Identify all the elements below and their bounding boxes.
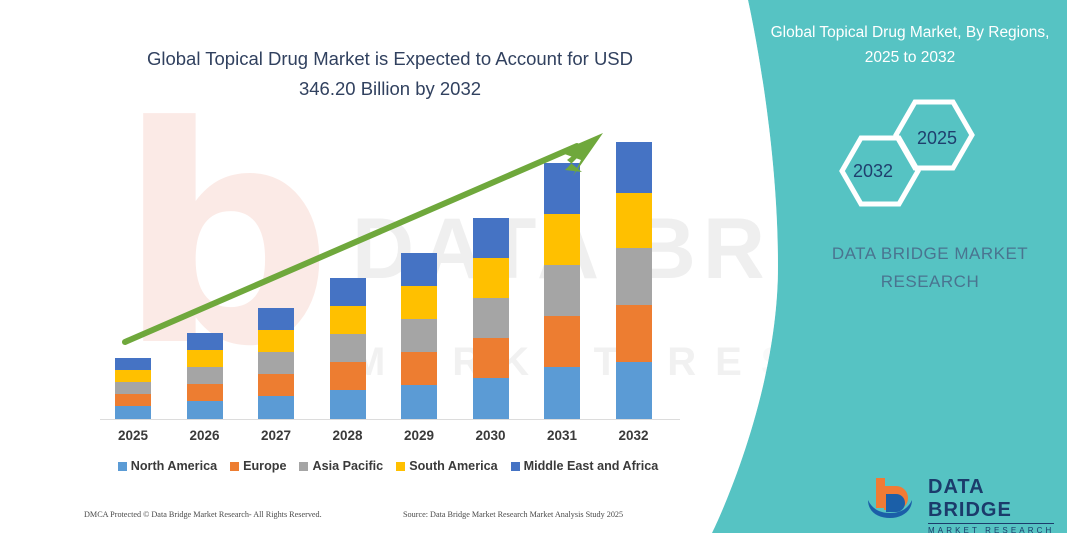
- legend-swatch-icon: [396, 462, 405, 471]
- bar-segment: [330, 306, 366, 334]
- bar-segment: [401, 385, 437, 419]
- x-axis-label-2028: 2028: [313, 428, 383, 443]
- bar-segment: [473, 338, 509, 378]
- bar-2027[interactable]: [258, 308, 294, 419]
- bar-segment: [258, 352, 294, 374]
- bars-container: [0, 0, 760, 419]
- brand-line-1: DATA BRIDGE MARKET: [790, 240, 1067, 268]
- hexagon-label-front: 2032: [853, 161, 893, 182]
- logo-divider: [928, 523, 1054, 524]
- bar-segment: [187, 401, 223, 419]
- bar-segment: [115, 382, 151, 394]
- bar-segment: [115, 358, 151, 370]
- logo-wordmark: DATA BRIDGE MARKET RESEARCH: [928, 476, 1056, 533]
- legend-label: Europe: [243, 459, 286, 473]
- legend-item-north-america[interactable]: North America: [118, 459, 217, 473]
- legend-label: Middle East and Africa: [524, 459, 659, 473]
- legend-swatch-icon: [230, 462, 239, 471]
- footer-source: Source: Data Bridge Market Research Mark…: [403, 510, 623, 519]
- bar-2031[interactable]: [544, 163, 580, 419]
- logo-main-text: DATA BRIDGE: [928, 476, 1056, 522]
- bar-segment: [473, 298, 509, 338]
- legend-label: North America: [131, 459, 217, 473]
- bar-2026[interactable]: [187, 333, 223, 419]
- legend-item-europe[interactable]: Europe: [230, 459, 286, 473]
- bar-segment: [115, 370, 151, 382]
- bar-2029[interactable]: [401, 253, 437, 419]
- x-axis-label-2025: 2025: [98, 428, 168, 443]
- infographic-canvas: b DATA BRIDGE MARKET RESEARCH Global Top…: [0, 0, 1067, 533]
- bar-segment: [473, 378, 509, 419]
- x-axis-label-2032: 2032: [599, 428, 669, 443]
- logo-sub-text: MARKET RESEARCH: [928, 526, 1056, 533]
- bar-segment: [401, 286, 437, 319]
- bar-segment: [473, 218, 509, 258]
- brand-name: DATA BRIDGE MARKET RESEARCH: [790, 240, 1067, 296]
- hexagon-label-back: 2025: [917, 128, 957, 149]
- brand-line-2: RESEARCH: [790, 268, 1067, 296]
- bar-segment: [616, 193, 652, 248]
- bar-segment: [616, 362, 652, 419]
- hexagon-group-icon: [820, 98, 1020, 210]
- bar-segment: [187, 333, 223, 350]
- bar-2028[interactable]: [330, 278, 366, 419]
- bar-segment: [473, 258, 509, 298]
- footer-copyright: DMCA Protected © Data Bridge Market Rese…: [84, 510, 322, 519]
- legend-swatch-icon: [118, 462, 127, 471]
- bar-segment: [544, 265, 580, 316]
- legend-swatch-icon: [511, 462, 520, 471]
- bar-segment: [258, 330, 294, 352]
- bar-segment: [401, 319, 437, 352]
- company-logo: DATA BRIDGE MARKET RESEARCH: [866, 474, 1056, 522]
- bar-segment: [544, 316, 580, 367]
- bar-segment: [544, 214, 580, 265]
- bar-segment: [401, 352, 437, 385]
- bar-segment: [330, 334, 366, 362]
- chart-panel: b DATA BRIDGE MARKET RESEARCH Global Top…: [0, 0, 760, 533]
- x-axis-label-2031: 2031: [527, 428, 597, 443]
- bar-segment: [330, 362, 366, 390]
- bar-2032[interactable]: [616, 142, 652, 419]
- regions-panel-title: Global Topical Drug Market, By Regions, …: [762, 20, 1058, 70]
- bar-segment: [115, 394, 151, 406]
- data-bridge-logo-icon: [866, 474, 922, 522]
- bar-segment: [401, 253, 437, 286]
- bar-segment: [544, 367, 580, 419]
- bar-segment: [616, 142, 652, 193]
- x-axis-label-2026: 2026: [170, 428, 240, 443]
- bar-segment: [187, 367, 223, 384]
- legend-item-middle-east-and-africa[interactable]: Middle East and Africa: [511, 459, 659, 473]
- x-axis-label-2030: 2030: [456, 428, 526, 443]
- bar-segment: [258, 374, 294, 396]
- bar-segment: [616, 305, 652, 362]
- legend-label: Asia Pacific: [312, 459, 383, 473]
- bar-2030[interactable]: [473, 218, 509, 419]
- bar-segment: [115, 406, 151, 419]
- legend-item-south-america[interactable]: South America: [396, 459, 497, 473]
- chart-legend: North AmericaEuropeAsia PacificSouth Ame…: [98, 459, 678, 473]
- bar-segment: [616, 248, 652, 305]
- bar-segment: [544, 163, 580, 214]
- x-axis-label-2029: 2029: [384, 428, 454, 443]
- bar-segment: [258, 396, 294, 419]
- bar-segment: [187, 350, 223, 367]
- legend-swatch-icon: [299, 462, 308, 471]
- legend-label: South America: [409, 459, 497, 473]
- x-axis-label-2027: 2027: [241, 428, 311, 443]
- bar-segment: [258, 308, 294, 330]
- x-axis-line: [100, 419, 680, 420]
- legend-item-asia-pacific[interactable]: Asia Pacific: [299, 459, 383, 473]
- bar-segment: [187, 384, 223, 401]
- bar-segment: [330, 278, 366, 306]
- bar-segment: [330, 390, 366, 419]
- bar-2025[interactable]: [115, 358, 151, 419]
